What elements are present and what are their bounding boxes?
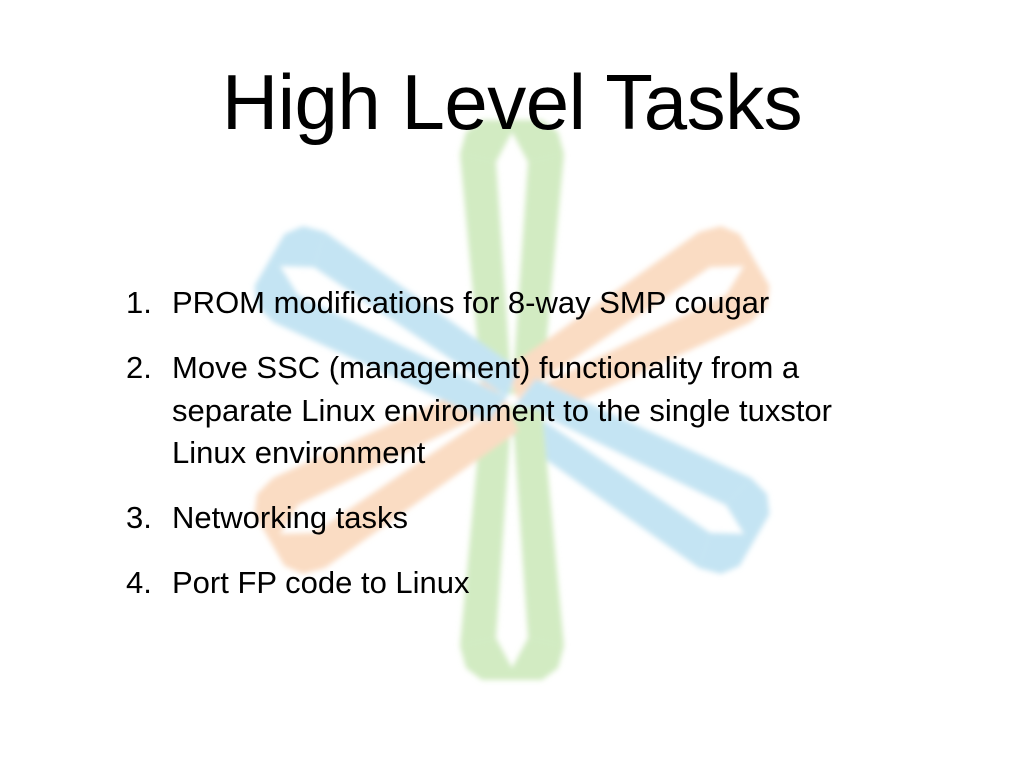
list-item-label: PROM modifications for 8-way SMP cougar: [172, 282, 902, 325]
slide-title: High Level Tasks: [0, 62, 1024, 144]
task-list: 1. PROM modifications for 8-way SMP coug…: [126, 282, 926, 605]
list-item-label: Move SSC (management) functionality from…: [172, 347, 888, 475]
list-item: 3. Networking tasks: [126, 497, 926, 540]
list-item-number: 4.: [126, 562, 172, 605]
list-item-number: 1.: [126, 282, 172, 325]
list-item-number: 3.: [126, 497, 172, 540]
presentation-slide: High Level Tasks 1. PROM modifications f…: [0, 0, 1024, 768]
list-item-number: 2.: [126, 347, 172, 390]
list-item: 2. Move SSC (management) functionality f…: [126, 347, 926, 475]
list-item-label: Port FP code to Linux: [172, 562, 902, 605]
list-item-label: Networking tasks: [172, 497, 902, 540]
list-item: 4. Port FP code to Linux: [126, 562, 926, 605]
list-item: 1. PROM modifications for 8-way SMP coug…: [126, 282, 926, 325]
